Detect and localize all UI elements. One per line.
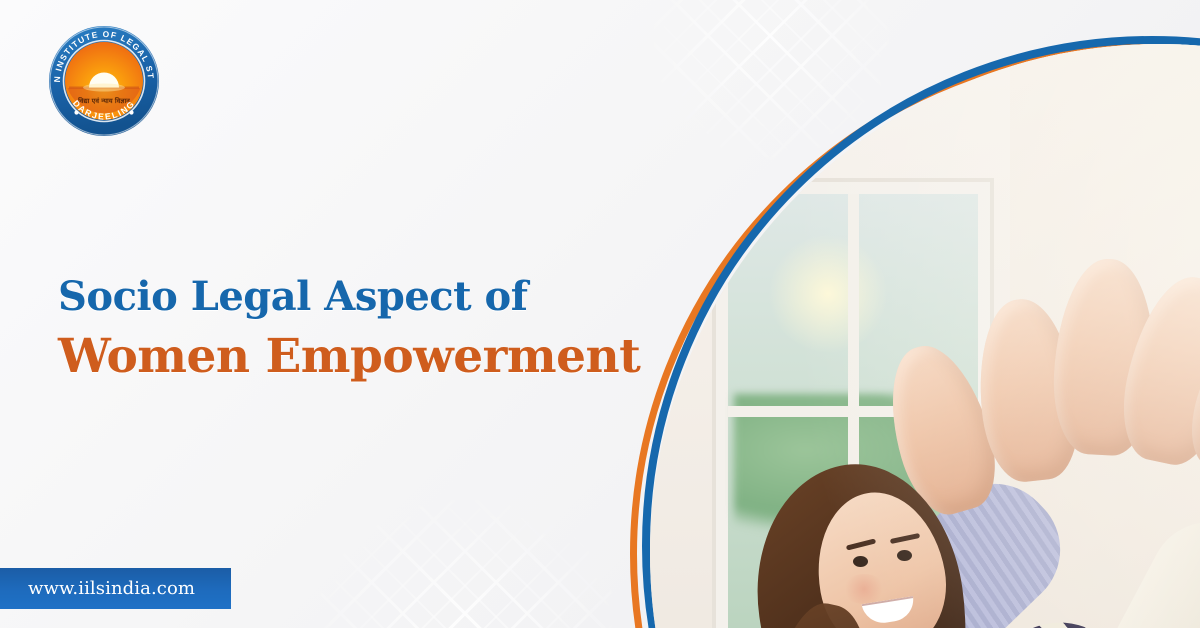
headline-line-2: Women Empowerment <box>58 333 618 380</box>
institute-logo[interactable]: विद्या एवं न्याय विज्ञान INDIAN INSTITUT… <box>47 24 161 138</box>
logo-dot-right <box>129 110 133 114</box>
blush-woman-1 <box>842 574 886 604</box>
website-url-label: www.iilsindia.com <box>0 578 195 599</box>
logo-dot-left <box>74 110 78 114</box>
eye-woman-1-right <box>897 550 912 561</box>
promotional-banner: विद्या एवं न्याय विज्ञान INDIAN INSTITUT… <box>0 0 1200 628</box>
arm-cream-sleeve <box>1084 501 1200 628</box>
headline-block: Socio Legal Aspect of Women Empowerment <box>58 277 618 380</box>
eye-woman-1-left <box>853 556 868 567</box>
website-url-chip[interactable]: www.iilsindia.com <box>0 568 231 609</box>
hero-photo-region <box>612 0 1200 628</box>
logo-motto-devanagari: विद्या एवं न्याय विज्ञान <box>77 96 130 105</box>
hero-photo-clip <box>650 44 1200 628</box>
headline-line-1: Socio Legal Aspect of <box>58 277 618 317</box>
hero-photo-image <box>650 44 1200 628</box>
